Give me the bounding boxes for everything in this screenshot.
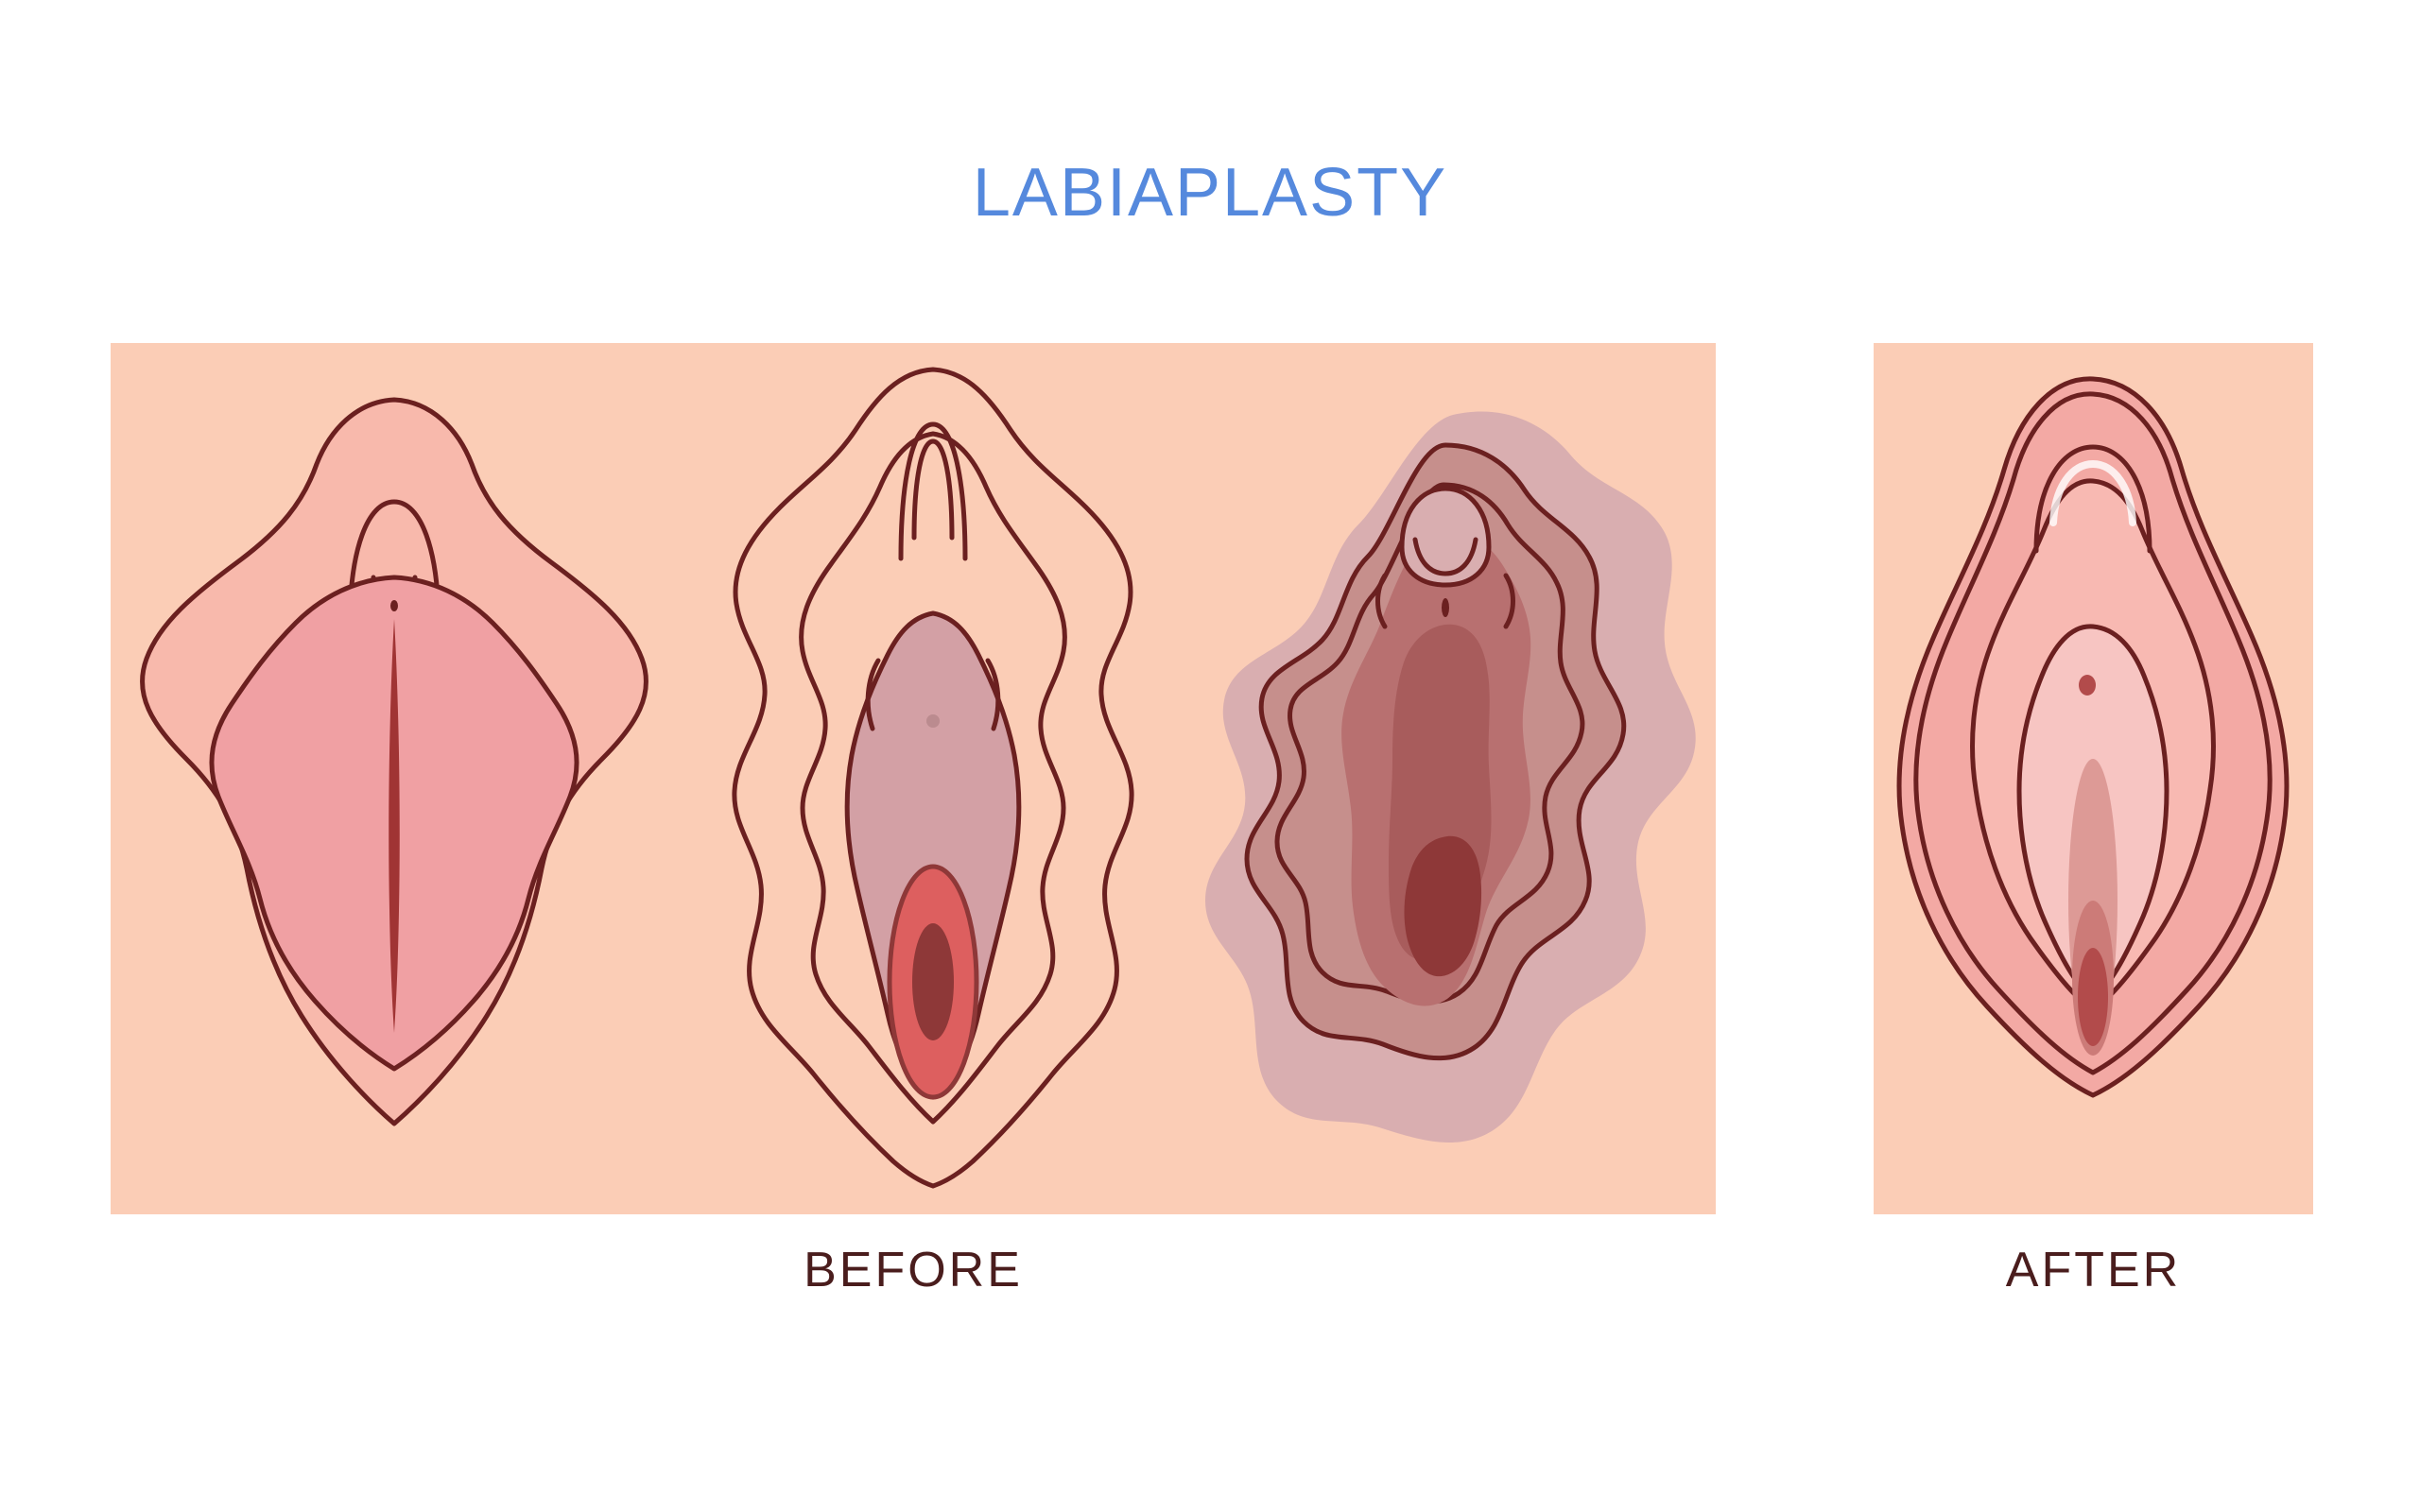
figure-corrected-labia (1874, 343, 2313, 1214)
panels-container (111, 343, 2313, 1214)
figure-3-group (1205, 411, 1696, 1142)
urethral-opening (390, 600, 398, 611)
caption-after: AFTER (1874, 1246, 2313, 1295)
figure-1-svg (111, 343, 678, 1214)
panel-before (111, 343, 1716, 1214)
figure-2-svg (678, 343, 1188, 1214)
figure-3-svg (1169, 343, 1716, 1214)
urethral-opening (926, 714, 940, 728)
vaginal-opening (912, 923, 954, 1040)
figure-2-group (735, 369, 1132, 1186)
panel-after (1874, 343, 2313, 1214)
clitoral-hood (1402, 489, 1489, 585)
figure-elongated-protruding-labia (678, 343, 1188, 1214)
caption-before: BEFORE (111, 1246, 1716, 1295)
figure-hypertrophic-pigmented-labia (1169, 343, 1716, 1214)
figure-4-group (1899, 379, 2287, 1095)
vaginal-opening (2078, 948, 2108, 1046)
urethral-opening (1442, 598, 1449, 617)
figure-wide-splayed-labia (111, 343, 678, 1214)
urethral-opening (2079, 675, 2096, 696)
page-title: LABIAPLASTY (0, 159, 2420, 227)
illustration-page: LABIAPLASTY (0, 0, 2420, 1512)
figure-1-group (143, 400, 647, 1124)
figure-4-svg (1874, 343, 2313, 1214)
